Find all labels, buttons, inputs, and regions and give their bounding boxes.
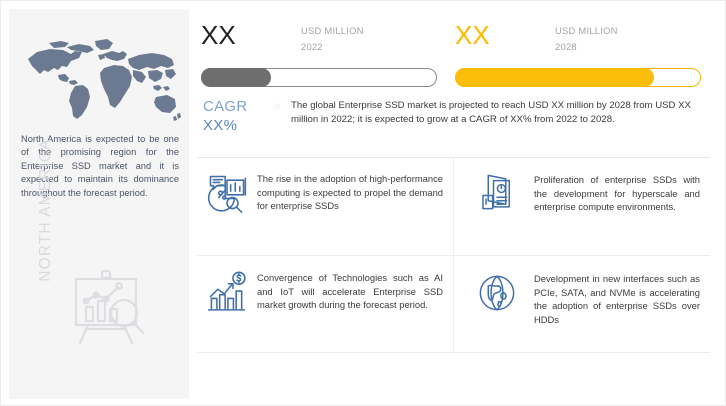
stat-unit-2022: USD MILLION xyxy=(301,25,364,36)
driver-card: Convergence of Technologies such as AI a… xyxy=(197,256,453,354)
server-hand-icon xyxy=(476,171,520,215)
progress-bar-2022 xyxy=(201,68,437,87)
growth-bar-chart-dollar-icon xyxy=(205,270,249,314)
stat-unit-2028: USD MILLION xyxy=(555,25,618,36)
progress-bar-fill-2022 xyxy=(201,68,271,87)
market-drivers-grid: The rise in the adoption of high-perform… xyxy=(197,157,710,353)
stat-year-2022: 2022 xyxy=(301,41,323,52)
world-map-icon xyxy=(19,37,181,125)
presentation-chart-magnifier-icon xyxy=(64,267,148,351)
cagr-block: CAGR XX% of xyxy=(203,97,295,135)
driver-card: Proliferation of enterprise SSDs with th… xyxy=(454,157,710,255)
infographic-page: North America is expected to be one of t… xyxy=(0,0,726,406)
driver-text: Convergence of Technologies such as AI a… xyxy=(257,270,443,312)
market-summary-text: The global Enterprise SSD market is proj… xyxy=(291,99,709,127)
progress-bar-fill-2028 xyxy=(455,68,654,87)
driver-text: Proliferation of enterprise SSDs with th… xyxy=(534,171,700,214)
cagr-connector-text: of xyxy=(273,101,280,111)
driver-card: The rise in the adoption of high-perform… xyxy=(197,157,453,255)
driver-card: Development in new interfaces such as PC… xyxy=(454,256,710,354)
stat-year-2028: 2028 xyxy=(555,41,577,52)
content-panel: XX USD MILLION 2022 XX USD MILLION 2028 … xyxy=(189,9,719,399)
driver-text: The rise in the adoption of high-perform… xyxy=(257,171,443,213)
globe-icon xyxy=(476,272,520,316)
cagr-label: CAGR xyxy=(203,97,295,116)
progress-bar-2028 xyxy=(455,68,701,87)
region-panel: North America is expected to be one of t… xyxy=(9,9,189,399)
cagr-value: XX% xyxy=(203,116,295,135)
analytics-pie-bar-magnifier-icon xyxy=(205,171,249,215)
driver-text: Development in new interfaces such as PC… xyxy=(534,270,700,326)
region-vertical-label: NORTH AMERICA xyxy=(37,135,55,285)
stat-value-2022: XX xyxy=(201,21,236,49)
stat-value-2028: XX xyxy=(455,21,490,49)
